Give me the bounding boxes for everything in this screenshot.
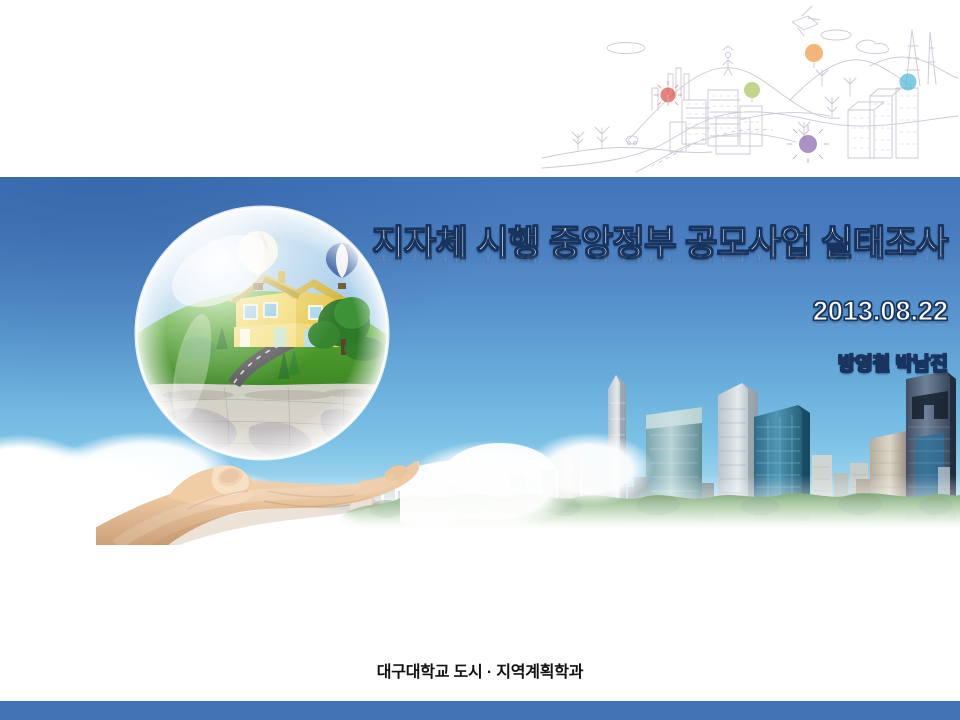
cityscape-sketch-icon bbox=[540, 0, 960, 177]
title-slide: 지자체 시행 중앙정부 공모사업 실태조사 지자체 시행 중앙정부 공모사업 실… bbox=[0, 0, 960, 720]
presentation-date-reflection: 2013.08.22 bbox=[340, 322, 948, 329]
footer-accent-bar bbox=[0, 701, 960, 720]
sketch-color-dots bbox=[654, 44, 917, 163]
title-block: 지자체 시행 중앙정부 공모사업 실태조사 지자체 시행 중앙정부 공모사업 실… bbox=[340, 225, 948, 376]
hand-illustration bbox=[96, 405, 426, 545]
page-title-reflection: 지자체 시행 중앙정부 공모사업 실태조사 bbox=[340, 252, 948, 264]
presentation-authors: 방영철 박남진 bbox=[340, 349, 948, 376]
footer-affiliation: 대구대학교 도시 · 지역계획학과 bbox=[0, 658, 960, 682]
top-sketch-decoration bbox=[0, 0, 960, 177]
title-banner: 지자체 시행 중앙정부 공모사업 실태조사 지자체 시행 중앙정부 공모사업 실… bbox=[0, 177, 960, 545]
